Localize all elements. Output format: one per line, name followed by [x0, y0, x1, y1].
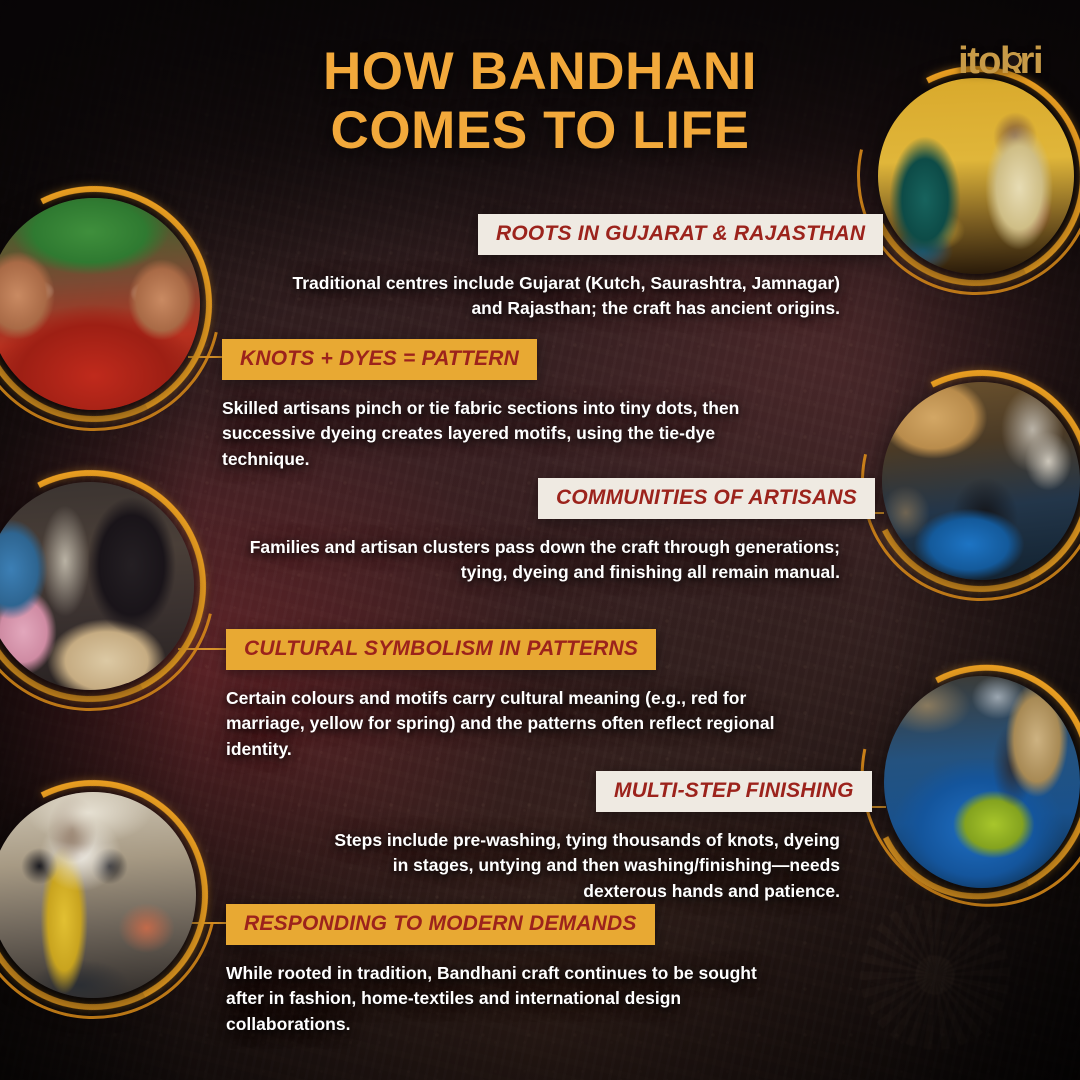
section-heading-roots: ROOTS IN GUJARAT & RAJASTHAN — [478, 214, 883, 255]
section-body-modern: While rooted in tradition, Bandhani craf… — [226, 961, 792, 1037]
section-heading-cultural: CULTURAL SYMBOLISM IN PATTERNS — [226, 629, 656, 670]
section-cultural: CULTURAL SYMBOLISM IN PATTERNS Certain c… — [226, 629, 788, 762]
section-knots: KNOTS + DYES = PATTERN Skilled artisans … — [222, 339, 770, 472]
photo-knot-hands-image — [0, 198, 200, 410]
section-roots: ROOTS IN GUJARAT & RAJASTHAN Traditional… — [282, 214, 840, 322]
logo-circle-icon — [1005, 52, 1022, 69]
section-modern: RESPONDING TO MODERN DEMANDS While roote… — [226, 904, 792, 1037]
photo-indigo-vat-image — [884, 676, 1080, 888]
title-line-2: COMES TO LIFE — [0, 101, 1080, 160]
photo-dyer-blue-vat — [882, 382, 1080, 580]
section-communities: COMMUNITIES OF ARTISANS Families and art… — [240, 478, 840, 586]
photo-yellow-lift — [0, 792, 196, 998]
photo-knot-hands — [0, 198, 200, 410]
photo-dyer-blue-vat-image — [882, 382, 1080, 580]
section-finishing: MULTI-STEP FINISHING Steps include pre-w… — [326, 771, 840, 904]
itokri-logo[interactable]: itokri — [958, 40, 1042, 82]
photo-indigo-vat — [884, 676, 1080, 888]
section-body-roots: Traditional centres include Gujarat (Kut… — [282, 271, 840, 322]
photo-women-cream-image — [0, 482, 194, 690]
section-heading-modern: RESPONDING TO MODERN DEMANDS — [226, 904, 655, 945]
section-heading-knots: KNOTS + DYES = PATTERN — [222, 339, 537, 380]
page-title: HOW BANDHANI COMES TO LIFE — [0, 42, 1080, 161]
photo-yellow-lift-image — [0, 792, 196, 998]
section-heading-communities: COMMUNITIES OF ARTISANS — [538, 478, 875, 519]
photo-women-cream — [0, 482, 194, 690]
section-body-cultural: Certain colours and motifs carry cultura… — [226, 686, 788, 762]
section-body-communities: Families and artisan clusters pass down … — [240, 535, 840, 586]
title-line-1: HOW BANDHANI — [323, 42, 757, 101]
section-body-finishing: Steps include pre-washing, tying thousan… — [326, 828, 840, 904]
section-body-knots: Skilled artisans pinch or tie fabric sec… — [222, 396, 770, 472]
section-heading-finishing: MULTI-STEP FINISHING — [596, 771, 872, 812]
logo-wordmark: itokri — [958, 42, 1042, 80]
infographic-poster: HOW BANDHANI COMES TO LIFE itokri ROOTS … — [0, 0, 1080, 1080]
